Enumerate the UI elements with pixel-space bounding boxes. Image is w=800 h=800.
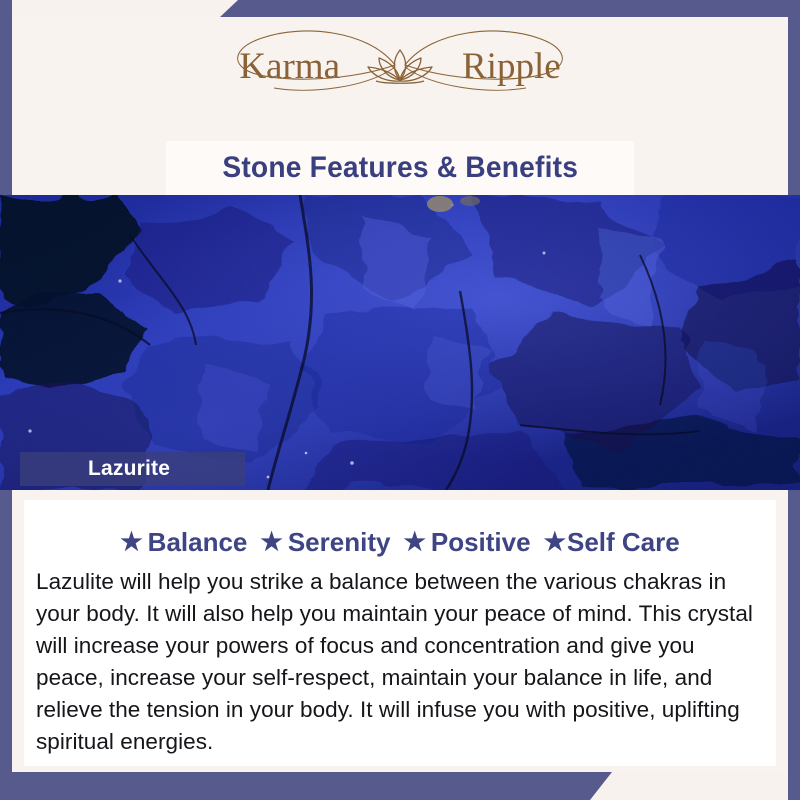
stone-description: Lazulite will help you strike a balance … (36, 566, 762, 758)
keyword-label: Serenity (288, 527, 391, 558)
title-banner: Stone Features & Benefits (166, 141, 634, 195)
stone-name: Lazurite (88, 457, 170, 481)
keyword-label: Self Care (567, 527, 680, 558)
keyword-item-serenity: ★ Serenity (260, 527, 390, 558)
stone-name-plate: Lazurite (20, 452, 245, 486)
brand-name-right: Ripple (462, 46, 561, 87)
keyword-list: ★ Balance ★ Serenity ★ Positive ★ Self C… (24, 527, 776, 558)
content-panel: ★ Balance ★ Serenity ★ Positive ★ Self C… (24, 500, 776, 766)
stone-photo-image (0, 195, 800, 490)
keyword-label: Positive (431, 527, 531, 558)
keyword-label: Balance (148, 527, 248, 558)
star-icon: ★ (544, 530, 566, 555)
stone-info-card: Karma Ripple Stone Features & Benefits (0, 0, 800, 800)
brand-name-left: Karma (239, 46, 340, 87)
keyword-item-balance: ★ Balance (120, 527, 247, 558)
frame-bottom-bar (0, 772, 612, 800)
star-icon: ★ (260, 530, 282, 555)
page-title: Stone Features & Benefits (222, 151, 578, 185)
keyword-item-positive: ★ Positive (403, 527, 530, 558)
keyword-item-self-care: ★ Self Care (544, 527, 680, 558)
stone-photo (0, 195, 800, 490)
lotus-icon: Karma Ripple (190, 22, 610, 108)
star-icon: ★ (403, 530, 425, 555)
frame-top-bar (220, 0, 800, 17)
brand-logo: Karma Ripple (0, 22, 800, 108)
star-icon: ★ (120, 530, 142, 555)
